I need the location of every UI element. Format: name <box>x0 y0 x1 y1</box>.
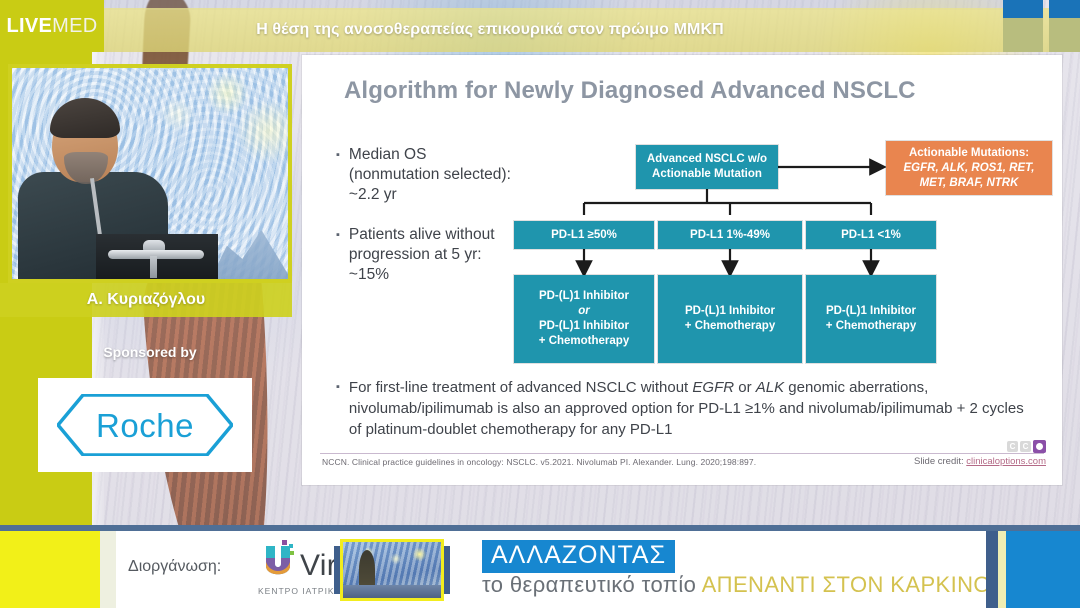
diagram-box-pdl1-mid: PD-L1 1%-49% <box>658 221 802 249</box>
session-title: Η θέση της ανοσοθεραπείας επικουρικά στο… <box>0 8 980 52</box>
footnote-part-2: or <box>734 379 756 396</box>
diagram-box-treatment-low: PD-(L)1 Inhibitor + Chemotherapy <box>806 275 936 363</box>
treatment-high-line1: PD-(L)1 Inhibitor <box>539 289 629 304</box>
campaign-tagline: το θεραπευτικό τοπίο ΑΠΕΝΑΝΤΙ ΣΤΟΝ ΚΑΡΚΙ… <box>482 572 991 598</box>
slide-bullet-list: ▪ Median OS (nonmutation selected): ~2.2… <box>336 145 516 305</box>
footnote-text: For first-line treatment of advanced NSC… <box>349 377 1036 440</box>
footer-left-pale-block <box>100 531 116 608</box>
pdl1-mid-label: PD-L1 1%-49% <box>690 228 770 243</box>
presentation-slide[interactable]: Algorithm for Newly Diagnosed Advanced N… <box>302 55 1062 485</box>
artwork-town <box>343 585 441 598</box>
speaker-name-plate: Α. Κυριαζόγλου <box>0 283 292 317</box>
campaign-tagline-gray: το θεραπευτικό τοπίο <box>482 572 696 597</box>
footnote-gene-egfr: EGFR <box>692 379 734 396</box>
livemed-logo-med: MED <box>52 15 97 38</box>
diagram-box-pdl1-high: PD-L1 ≥50% <box>514 221 654 249</box>
footer-right-blue-block <box>1006 531 1080 608</box>
slide-title: Algorithm for Newly Diagnosed Advanced N… <box>344 77 916 105</box>
livemed-logo-live: LIVE <box>7 15 53 38</box>
footer-right-navy-block <box>986 531 998 608</box>
campaign-title-highlight: ΑΛΛΑΖΟΝΤΑΣ <box>482 540 675 573</box>
sponsor-logo[interactable]: Roche <box>38 378 252 472</box>
bullet-marker-icon: ▪ <box>336 225 340 285</box>
speaker-video-inner <box>12 68 288 279</box>
diagram-box-root: Advanced NSCLC w/o Actionable Mutation <box>636 145 778 189</box>
bullet-text: Median OS (nonmutation selected): ~2.2 y… <box>349 145 516 205</box>
sponsored-by-label: Sponsored by <box>60 344 240 360</box>
top-right-blue-block-a <box>1003 0 1043 18</box>
treatment-high-line2: or <box>578 304 590 319</box>
cco-letter-o <box>1033 440 1046 453</box>
diagram-box-treatment-mid: PD-(L)1 Inhibitor + Chemotherapy <box>658 275 802 363</box>
treatment-mid-line2: + Chemotherapy <box>685 319 775 334</box>
speaker-video[interactable] <box>8 64 292 283</box>
slide-footer-divider <box>320 453 1044 454</box>
treatment-high-line3: PD-(L)1 Inhibitor <box>539 319 629 334</box>
slide-credit-label: Slide credit: <box>914 456 966 467</box>
microphone-post <box>150 256 157 278</box>
diagram-box-root-line2: Actionable Mutation <box>652 167 762 182</box>
bullet-text: Patients alive without progression at 5 … <box>349 225 516 285</box>
speaker-name: Α. Κυριαζόγλου <box>87 291 205 309</box>
treatment-high-line4: + Chemotherapy <box>539 334 629 349</box>
slide-citation: NCCN. Clinical practice guidelines in on… <box>322 457 756 467</box>
actionable-mutations-heading: Actionable Mutations: <box>909 146 1029 161</box>
actionable-mutations-line1: EGFR, ALK, ROS1, RET, <box>904 161 1035 176</box>
treatment-low-line2: + Chemotherapy <box>826 319 916 334</box>
diagram-box-root-line1: Advanced NSCLC w/o <box>647 152 767 167</box>
pdl1-low-label: PD-L1 <1% <box>841 228 901 243</box>
slide-credit: Slide credit: clinicaloptions.com <box>914 456 1046 467</box>
diagram-box-pdl1-low: PD-L1 <1% <box>806 221 936 249</box>
cco-letter-c1: C <box>1007 441 1018 452</box>
diagram-box-treatment-high: PD-(L)1 Inhibitor or PD-(L)1 Inhibitor +… <box>514 275 654 363</box>
sponsor-name: Roche <box>96 409 194 442</box>
slide-credit-link[interactable]: clinicaloptions.com <box>966 456 1046 467</box>
top-right-olive-block-a <box>1003 18 1043 52</box>
virtus-logo-icon <box>262 540 298 580</box>
top-right-olive-block-b <box>1049 18 1080 52</box>
treatment-algorithm-diagram: Advanced NSCLC w/o Actionable Mutation A… <box>502 141 1062 401</box>
campaign-tagline-gold: ΑΠΕΝΑΝΤΙ ΣΤΟΝ ΚΑΡΚΙΝΟ <box>702 572 991 597</box>
diagram-box-actionable-mutations: Actionable Mutations: EGFR, ALK, ROS1, R… <box>886 141 1052 195</box>
footnote-part-1: For first-line treatment of advanced NSC… <box>349 379 692 396</box>
pdl1-high-label: PD-L1 ≥50% <box>551 228 617 243</box>
treatment-mid-line1: PD-(L)1 Inhibitor <box>685 304 775 319</box>
cco-logo: C C <box>1007 440 1046 453</box>
screen: Η θέση της ανοσοθεραπείας επικουρικά στο… <box>0 0 1080 608</box>
slide-footnote-bullet: ▪ For first-line treatment of advanced N… <box>336 377 1036 440</box>
bullet-marker-icon: ▪ <box>336 145 340 205</box>
event-artwork-thumbnail <box>340 539 444 601</box>
list-item: ▪ Patients alive without progression at … <box>336 225 516 285</box>
cco-letter-c2: C <box>1020 441 1031 452</box>
treatment-low-line1: PD-(L)1 Inhibitor <box>826 304 916 319</box>
footnote-gene-alk: ALK <box>756 379 784 396</box>
top-right-blue-block-b <box>1049 0 1080 18</box>
livemed-logo[interactable]: LIVEMED <box>0 0 104 52</box>
bullet-marker-icon: ▪ <box>336 377 340 440</box>
footer-right-cream-block <box>998 531 1006 608</box>
organizer-label: Διοργάνωση: <box>128 558 221 576</box>
actionable-mutations-line2: MET, BRAF, NTRK <box>920 176 1019 191</box>
footer-left-yellow-block <box>0 531 100 608</box>
list-item: ▪ Median OS (nonmutation selected): ~2.2… <box>336 145 516 205</box>
event-artwork-thumbnail-image <box>343 542 441 598</box>
